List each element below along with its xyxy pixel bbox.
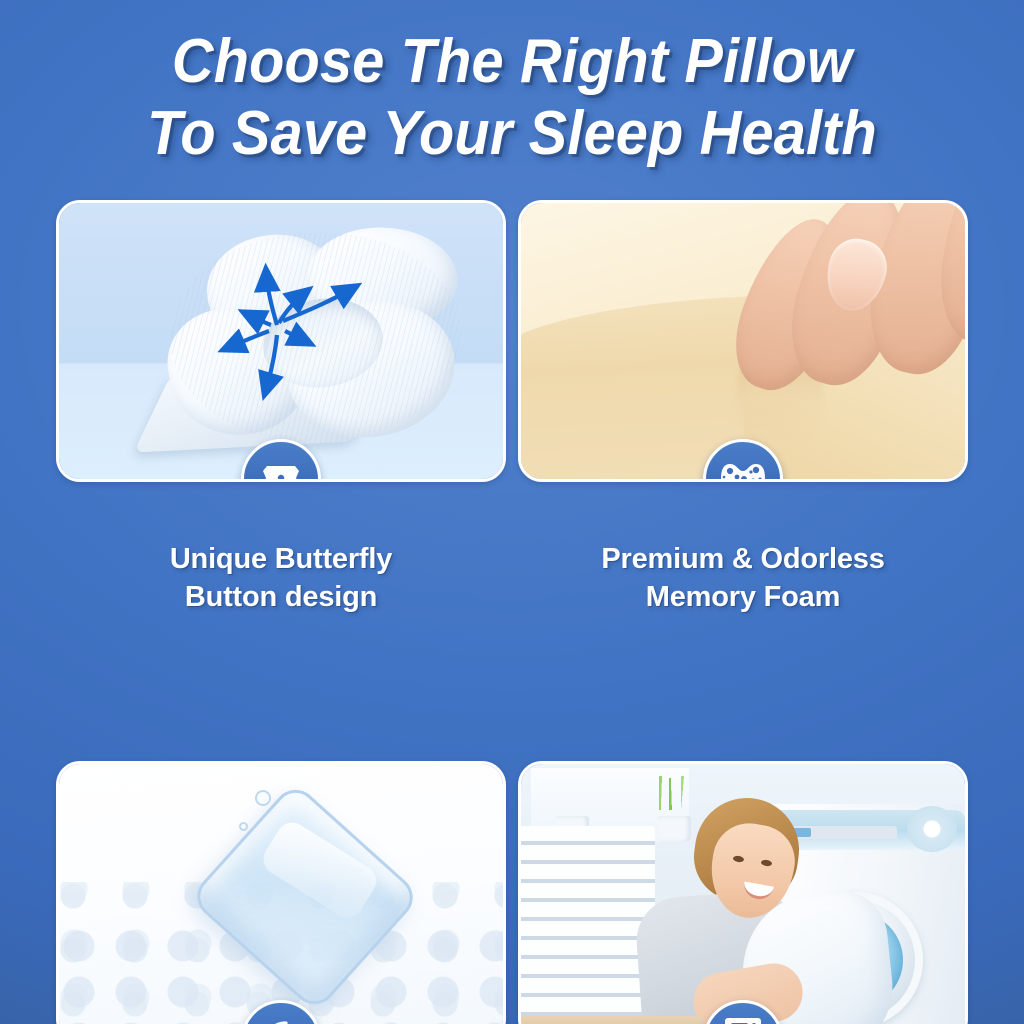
water-bubble-large: [255, 790, 271, 806]
caption-line-2: Button design: [56, 578, 506, 616]
pillow-illustration: [111, 221, 461, 471]
feature-caption: Premium & Odorless Memory Foam: [518, 540, 968, 616]
feature-card-machine-washable-pillow-case[interactable]: Machine-Washable Pillow Case: [518, 761, 968, 1024]
ice-cube-highlight: [258, 817, 383, 924]
sleeping-moon-icon: [259, 1018, 303, 1024]
butterfly-pillow-icon: [259, 459, 303, 482]
feature-image-card: [518, 200, 968, 482]
feature-card-butterfly-button-design[interactable]: Unique Butterfly Button design: [56, 200, 506, 616]
hand-illustration: [731, 200, 968, 411]
wooden-floor: [521, 1016, 701, 1024]
rolled-towel: [907, 806, 957, 852]
sponge-foam-icon: [720, 462, 766, 482]
feature-card-memory-foam[interactable]: Premium & Odorless Memory Foam: [518, 200, 968, 616]
window-blinds: [521, 826, 655, 1024]
butterfly-pillow-photo: [59, 203, 503, 479]
caption-line-1: Unique Butterfly: [56, 540, 506, 578]
washing-machine-icon: [724, 1017, 762, 1024]
feature-caption: Unique Butterfly Button design: [56, 540, 506, 616]
airflow-arrows-icon: [111, 221, 461, 471]
caption-line-2: Memory Foam: [518, 578, 968, 616]
product-infographic-poster: Choose The Right Pillow To Save Your Sle…: [0, 0, 1024, 1024]
feature-image-card: [56, 200, 506, 482]
woman-doing-laundry: [639, 798, 849, 1024]
feature-card-breathable-cooling-pillowcase[interactable]: Breathable & Cooling Pillowcase: [56, 761, 506, 1024]
headline-line-1: Choose The Right Pillow: [36, 26, 988, 98]
water-bubble-small: [239, 822, 248, 831]
caption-line-1: Premium & Odorless: [518, 540, 968, 578]
feature-image-card: [56, 761, 506, 1024]
feature-grid: Unique Butterfly Button design: [56, 200, 968, 1024]
memory-foam-photo: [521, 203, 965, 479]
washing-machine-photo: [521, 764, 965, 1024]
page-title: Choose The Right Pillow To Save Your Sle…: [36, 26, 988, 170]
ice-cube-photo: [59, 764, 503, 1024]
headline-line-2: To Save Your Sleep Health: [36, 98, 988, 170]
feature-image-card: [518, 761, 968, 1024]
